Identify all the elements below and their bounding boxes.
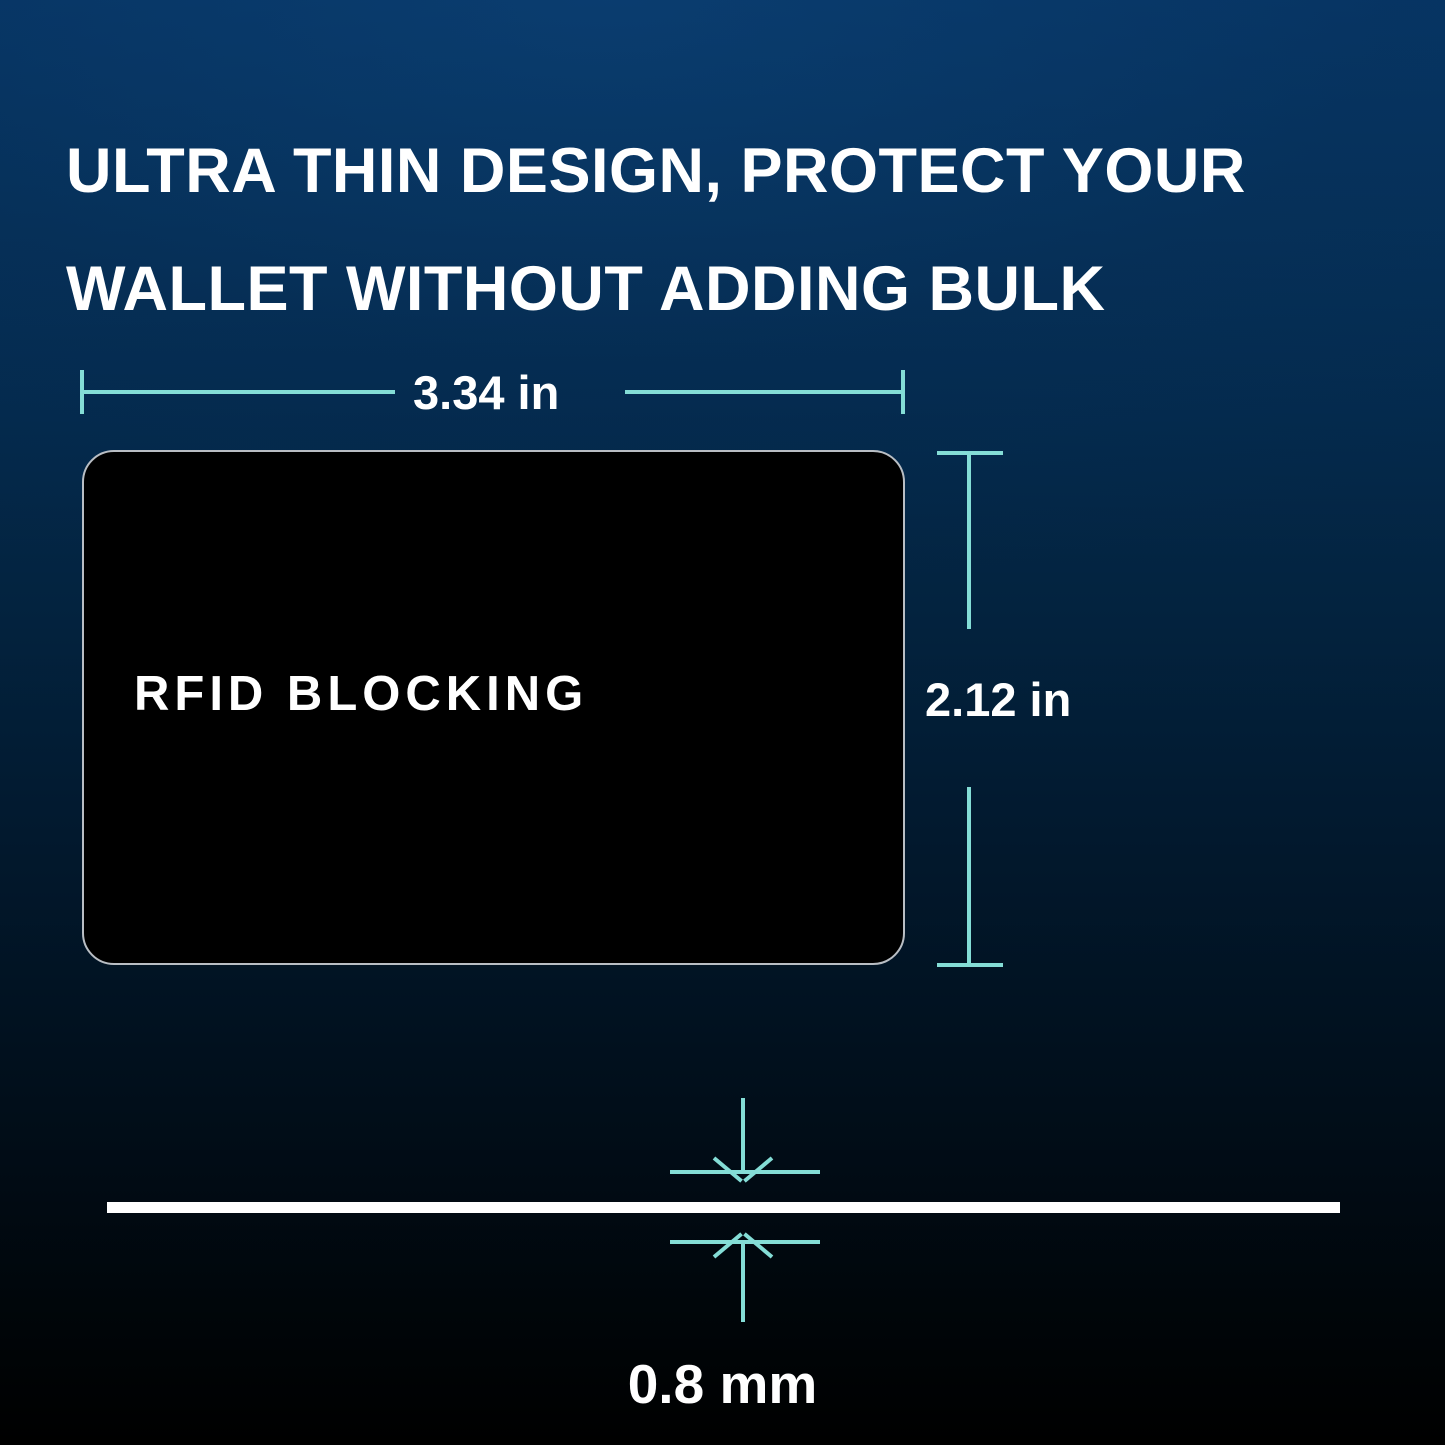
- height-dimension-line-bottom-icon: [967, 787, 971, 967]
- height-dimension-line-top-icon: [967, 451, 971, 629]
- width-dimension-line-right-icon: [625, 390, 905, 394]
- rfid-card: RFID BLOCKING: [82, 450, 905, 965]
- product-infographic: ULTRA THIN DESIGN, PROTECT YOUR WALLET W…: [0, 0, 1445, 1445]
- thickness-extension-line-top-icon: [670, 1170, 820, 1174]
- width-dimension-label: 3.34 in: [413, 365, 559, 420]
- height-dimension-label: 2.12 in: [925, 672, 1071, 727]
- page-title: ULTRA THIN DESIGN, PROTECT YOUR WALLET W…: [66, 112, 1336, 348]
- width-dimension-line-left-icon: [80, 390, 395, 394]
- thickness-dimension-label: 0.8 mm: [0, 1352, 1445, 1416]
- arrow-down-icon: [716, 1143, 770, 1173]
- rfid-card-label: RFID BLOCKING: [134, 666, 588, 722]
- thickness-arrow-shaft-bottom-icon: [741, 1242, 745, 1322]
- card-thickness-edge: [107, 1202, 1340, 1213]
